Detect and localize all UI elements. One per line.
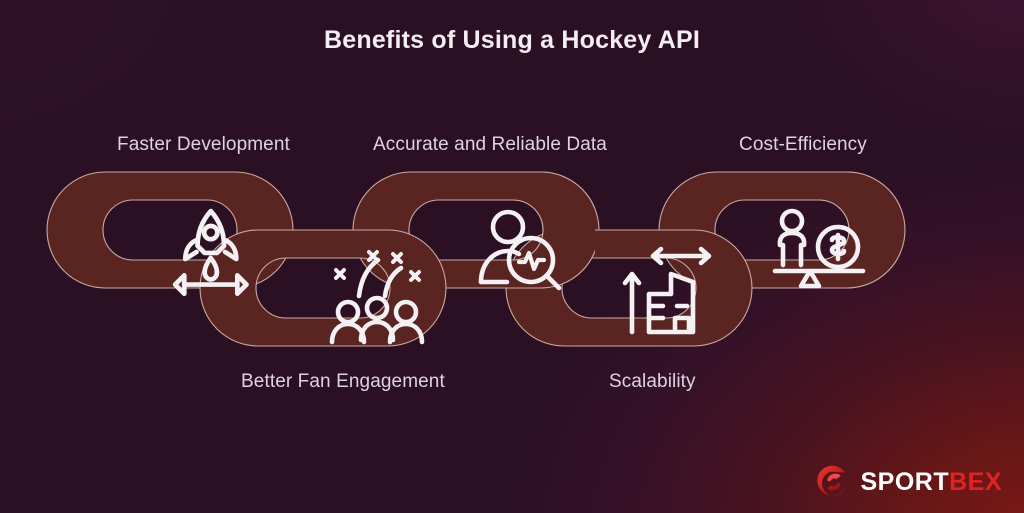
logo-word-sport: SPORT [860, 468, 949, 496]
label-faster-development: Faster Development [117, 134, 290, 156]
label-cost-efficiency: Cost-Efficiency [739, 134, 867, 156]
logo-word-bex: BEX [949, 468, 1002, 496]
label-scalability: Scalability [609, 371, 696, 393]
chain-links-svg [0, 0, 1024, 513]
sportbex-swoosh-icon [817, 465, 851, 499]
sportbex-wordmark: SPORTBEX [860, 470, 1002, 495]
infographic-canvas: Benefits of Using a Hockey API [0, 0, 1024, 513]
label-better-fan-engagement: Better Fan Engagement [241, 371, 445, 393]
sportbex-logo[interactable]: SPORTBEX [817, 465, 1002, 499]
label-accurate-and-reliable-data: Accurate and Reliable Data [373, 134, 607, 156]
chain-diagram [0, 0, 1024, 513]
